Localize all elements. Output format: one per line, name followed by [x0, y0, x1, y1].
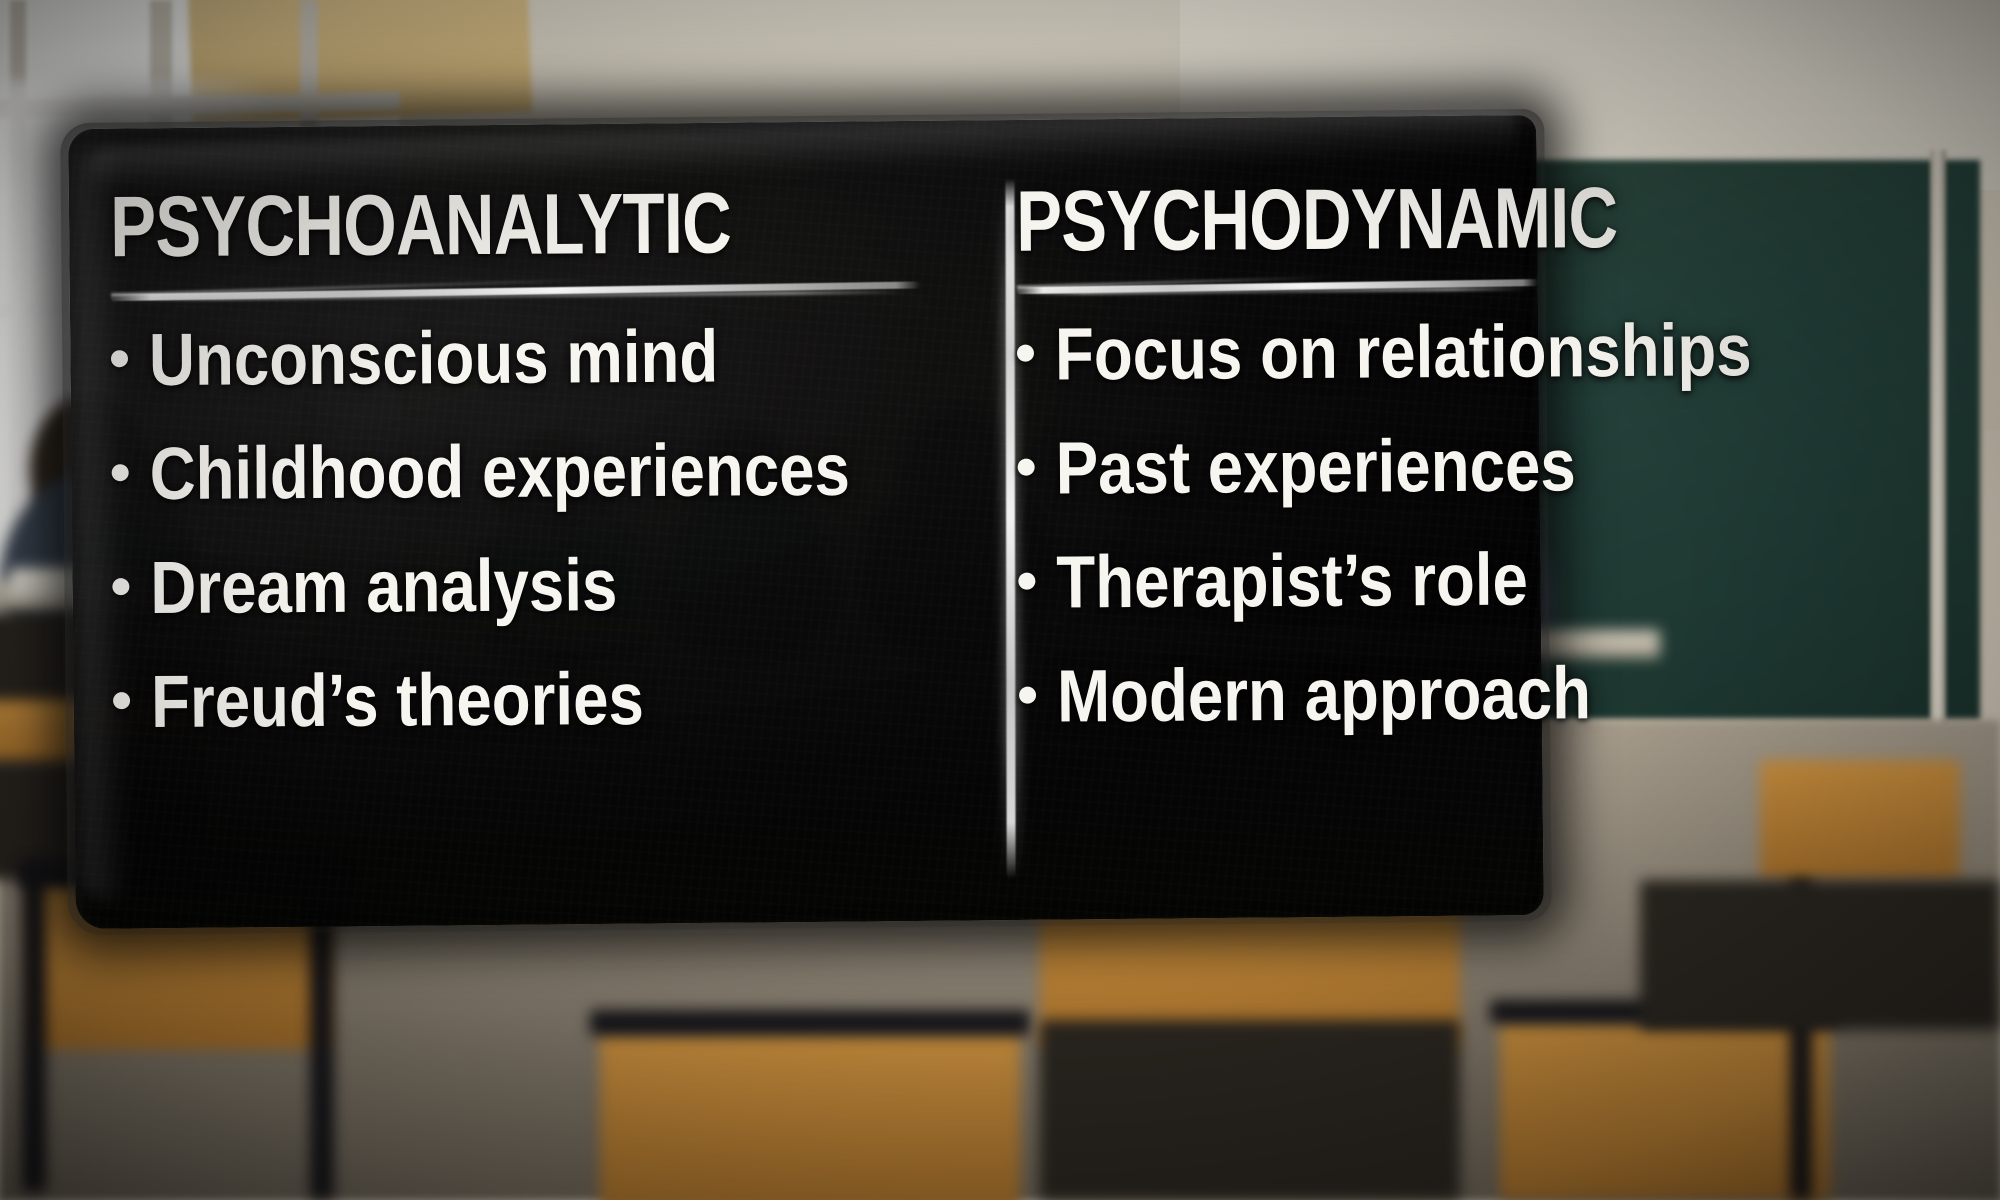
bullet-dot-icon	[1018, 572, 1035, 589]
bullet-dot-icon	[1017, 344, 1034, 361]
list-item: Childhood experiences	[111, 432, 921, 511]
bullet-dot-icon	[1019, 686, 1036, 703]
list-item: Freud’s theories	[113, 660, 923, 739]
column-heading-right: PSYCHODYNAMIC	[1016, 178, 1434, 263]
slide-canvas: PSYCHOANALYTIC Unconscious mind Childhoo…	[0, 0, 2000, 1200]
list-item-label: Unconscious mind	[149, 319, 719, 396]
list-item-label: Focus on relationships	[1055, 313, 1752, 391]
bullet-list-right: Focus on relationships Past experiences …	[1017, 314, 1542, 733]
chalkboard-overlay: PSYCHOANALYTIC Unconscious mind Childhoo…	[0, 0, 2000, 1200]
bullet-dot-icon	[112, 578, 129, 595]
chalk-underline-right	[1017, 276, 1539, 295]
column-psychoanalytic: PSYCHOANALYTIC Unconscious mind Childhoo…	[70, 121, 955, 926]
list-item: Modern approach	[1019, 656, 1541, 733]
bullet-dot-icon	[113, 692, 130, 709]
list-item: Focus on relationships	[1017, 314, 1539, 391]
list-item: Dream analysis	[112, 546, 922, 625]
list-item-label: Past experiences	[1055, 428, 1576, 505]
list-item-label: Dream analysis	[150, 548, 617, 625]
column-heading-left: PSYCHOANALYTIC	[110, 182, 758, 269]
comparison-content: PSYCHOANALYTIC Unconscious mind Childhoo…	[70, 118, 1543, 927]
list-item: Unconscious mind	[111, 318, 921, 397]
list-item: Therapist’s role	[1018, 542, 1540, 619]
column-psychodynamic: PSYCHODYNAMIC Focus on relationships Pas…	[950, 118, 1543, 922]
bullet-dot-icon	[111, 350, 128, 367]
list-item-label: Freud’s theories	[151, 662, 644, 739]
list-item-label: Modern approach	[1057, 656, 1591, 733]
chalk-underline-left	[111, 280, 921, 301]
bullet-list-left: Unconscious mind Childhood experiences D…	[111, 318, 924, 739]
bullet-dot-icon	[1018, 458, 1035, 475]
bullet-dot-icon	[112, 464, 129, 481]
list-item: Past experiences	[1017, 428, 1539, 505]
list-item-label: Childhood experiences	[149, 432, 850, 510]
list-item-label: Therapist’s role	[1056, 542, 1528, 619]
